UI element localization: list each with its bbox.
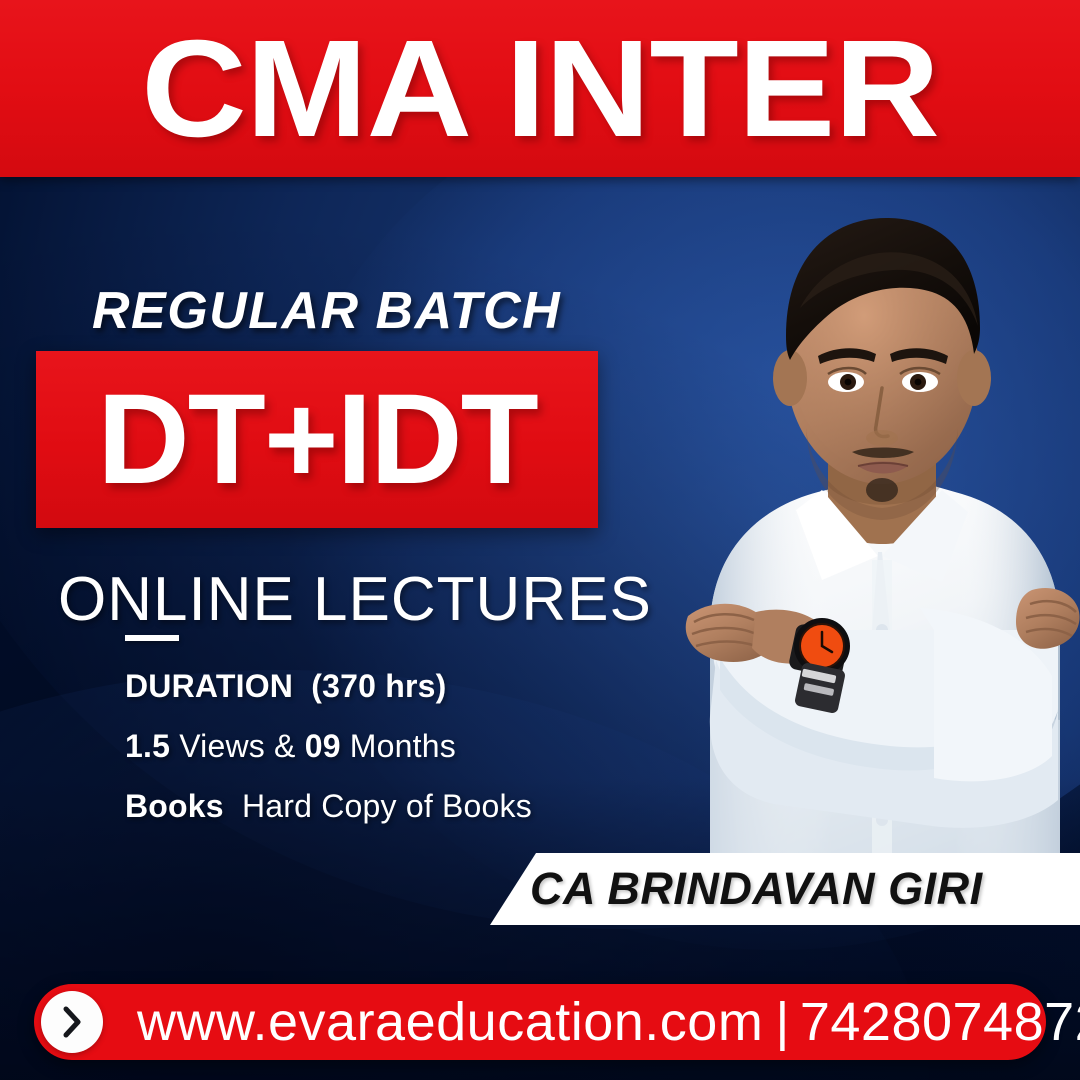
subject-label: DT+IDT [97, 376, 537, 504]
website-url[interactable]: www.evaraeducation.com [137, 992, 763, 1052]
page-title: CMA INTER [0, 0, 1080, 177]
instructor-photo [560, 160, 1080, 920]
footer-separator: | [775, 991, 790, 1053]
detail-views-count: 1.5 [125, 728, 170, 764]
detail-books-value: Hard Copy of Books [242, 788, 532, 824]
detail-books-label: Books [125, 788, 224, 824]
batch-type-label: REGULAR BATCH [92, 281, 561, 341]
detail-duration-label: DURATION [125, 668, 293, 704]
detail-duration-value: (370 hrs) [311, 668, 446, 704]
lecture-mode-label: ONLINE LECTURES [58, 564, 652, 635]
detail-views: 1.5 Views & 09 Months [125, 728, 456, 765]
subject-badge: DT+IDT [36, 351, 598, 528]
faculty-name: CA BRINDAVAN GIRI [530, 863, 983, 915]
contact-text: www.evaraeducation.com|7428074872 [137, 991, 1080, 1053]
faculty-name-ribbon: CA BRINDAVAN GIRI [490, 853, 1080, 925]
detail-validity-label: Months [350, 728, 456, 764]
header-banner: CMA INTER [0, 0, 1080, 177]
phone-number[interactable]: 7428074872 [800, 992, 1080, 1052]
contact-footer-bar[interactable]: www.evaraeducation.com|7428074872 [34, 984, 1046, 1060]
divider-rule [125, 635, 179, 641]
chevron-right-icon [41, 991, 103, 1053]
detail-books: Books Hard Copy of Books [125, 788, 532, 825]
detail-views-label: Views & [179, 728, 295, 764]
promo-poster: CMA INTER REGULAR BATCH DT+IDT ONLINE LE… [0, 0, 1080, 1080]
detail-validity-count: 09 [305, 728, 341, 764]
detail-duration: DURATION (370 hrs) [125, 668, 447, 705]
